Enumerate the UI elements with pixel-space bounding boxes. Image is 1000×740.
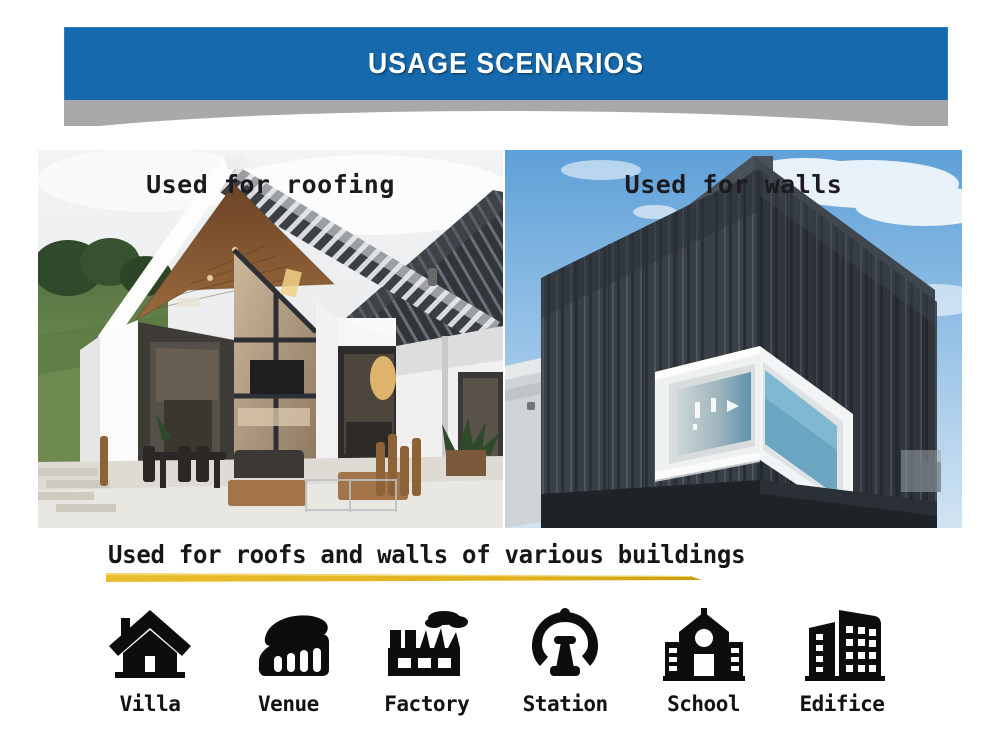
icon-item-venue[interactable]: Venue — [228, 608, 348, 716]
station-icon — [522, 608, 608, 682]
factory-icon — [384, 608, 470, 682]
house-icon — [107, 608, 193, 682]
caption-block: Used for roofs and walls of various buil… — [108, 540, 808, 588]
icon-item-villa[interactable]: Villa — [90, 608, 210, 716]
header: USAGE SCENARIOS — [0, 0, 1000, 135]
icon-label-station: Station — [523, 692, 608, 716]
roofing-photo: Used for roofing — [38, 150, 503, 528]
photo-strip: Used for roofing — [38, 150, 962, 528]
icon-label-school: School — [667, 692, 740, 716]
walls-photo-label: Used for walls — [505, 170, 962, 199]
building-type-icon-row: Villa Venue — [90, 596, 902, 716]
header-bar: USAGE SCENARIOS — [64, 27, 948, 101]
header-shadow-swoosh — [64, 100, 948, 132]
icon-item-school[interactable]: School — [644, 608, 764, 716]
icon-item-factory[interactable]: Factory — [367, 608, 487, 716]
icon-label-edifice: Edifice — [799, 692, 884, 716]
icon-item-edifice[interactable]: Edifice — [782, 608, 902, 716]
walls-photo: Used for walls — [505, 150, 962, 528]
icon-label-villa: Villa — [120, 692, 181, 716]
walls-photo-art — [505, 150, 962, 528]
roofing-photo-label: Used for roofing — [38, 170, 503, 199]
caption-text: Used for roofs and walls of various buil… — [108, 540, 780, 569]
stadium-icon — [245, 608, 331, 682]
icon-item-station[interactable]: Station — [505, 608, 625, 716]
usage-scenarios-page: USAGE SCENARIOS — [0, 0, 1000, 740]
page-title: USAGE SCENARIOS — [368, 48, 644, 81]
caption-underline — [104, 571, 704, 585]
icon-label-factory: Factory — [384, 692, 469, 716]
icon-label-venue: Venue — [258, 692, 319, 716]
roofing-photo-art — [38, 150, 503, 528]
office-tower-icon — [799, 608, 885, 682]
school-icon — [661, 608, 747, 682]
